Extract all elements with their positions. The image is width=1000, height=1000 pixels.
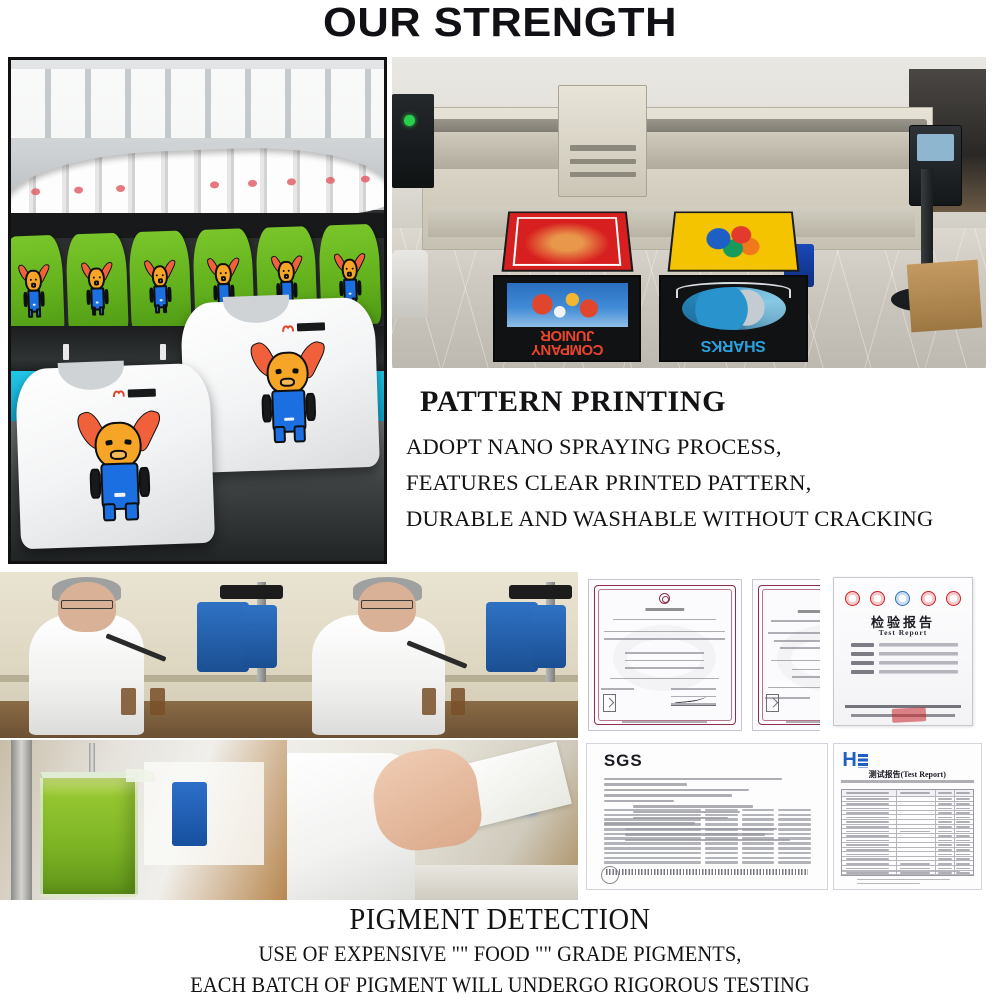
- print-head-carriage: [558, 85, 647, 197]
- photo-pigment-beaker: [0, 740, 287, 900]
- test-report-subtitle: Test Report: [834, 628, 971, 637]
- beaker-spout: [126, 769, 155, 782]
- eyeglasses-icon: [61, 600, 113, 608]
- iso-certificate-chinese: [588, 579, 742, 732]
- cal-seal-icon: [946, 591, 961, 606]
- pigment-detection-line-2: EACH BATCH OF PIGMENT WILL UNDERGO RIGOR…: [35, 969, 965, 1000]
- lab-coat: [312, 615, 445, 735]
- shirt-collar: [222, 295, 289, 325]
- pattern-printing-text-block: PATTERN PRINTING ADOPT NANO SPRAYING PRO…: [392, 385, 998, 537]
- cardboard-box: [906, 260, 982, 333]
- cnas-seal-icon: [895, 591, 910, 606]
- test-report-fields: [851, 643, 958, 679]
- lab-mixer-blue: [532, 605, 567, 668]
- h-report-title: 测试报告(Test Report): [834, 769, 981, 780]
- certification-seal-row: [845, 590, 960, 608]
- photo-hand-with-swatch: [287, 740, 578, 900]
- printer-gantry: [428, 132, 927, 169]
- photo-sgs-and-h-reports: SGS: [582, 740, 986, 900]
- cqc-seal-icon: [845, 591, 860, 606]
- certificate-badge-icon: [603, 694, 616, 712]
- printer-display-screen: [917, 134, 954, 161]
- horn-icon: [281, 324, 293, 333]
- eyeglasses-icon: [361, 600, 413, 608]
- printed-plate-yellow: [668, 212, 800, 273]
- h-test-report: H 测试报告(Test Report): [833, 743, 982, 890]
- infographic-page: OUR STRENGTH: [0, 0, 1000, 1000]
- h-results-table: [841, 789, 974, 876]
- pigment-detection-heading: PIGMENT DETECTION: [40, 900, 960, 938]
- sgs-test-report: SGS: [586, 743, 828, 890]
- shirt-small-logo: [281, 323, 324, 333]
- pattern-printing-line-1: ADOPT NANO SPRAYING PROCESS,: [392, 429, 998, 465]
- lab-photo-right: [289, 572, 578, 738]
- sgs-barcode: [606, 869, 808, 875]
- certificate-watermark: [613, 625, 716, 691]
- lab-coat: [29, 615, 145, 735]
- power-led-icon: [404, 115, 415, 126]
- ccc-seal-icon: [870, 591, 885, 606]
- printed-shirt-front: [15, 362, 215, 549]
- photo-lab-technicians: [0, 572, 578, 738]
- plate-label-company: COMPANY: [501, 342, 634, 357]
- test-report-page: 检验报告 Test Report: [833, 577, 972, 726]
- printer-control-panel[interactable]: [909, 125, 962, 206]
- printed-plate-sharks: SHARKS: [659, 275, 808, 362]
- photo-conveyor-line: [8, 57, 387, 564]
- shark-graphic: [682, 287, 786, 330]
- pigment-detection-line-1: USE OF EXPENSIVE "" FOOD "" GRADE PIGMEN…: [35, 938, 965, 969]
- green-pigment-beaker: [40, 772, 138, 897]
- pattern-printing-line-2: FEATURES CLEAR PRINTED PATTERN,: [392, 465, 998, 501]
- plate-label-sharks: SHARKS: [667, 337, 800, 353]
- background-equipment: [172, 782, 206, 846]
- sgs-stamp-icon: [601, 866, 619, 884]
- bull-mascot: [81, 404, 159, 522]
- page-title: OUR STRENGTH: [0, 0, 1000, 44]
- h-report-notes: [841, 871, 974, 887]
- certificate-signature: [671, 691, 716, 706]
- shirt-collar: [58, 360, 125, 391]
- sgs-logo: SGS: [604, 751, 643, 771]
- horn-icon: [113, 389, 125, 398]
- shirt-small-logo: [113, 388, 156, 398]
- sgs-results-table: [604, 809, 811, 866]
- certificate-badge-icon: [766, 694, 779, 712]
- photo-chinese-test-report: 检验报告 Test Report: [820, 572, 986, 738]
- lab-mixer-blue: [197, 602, 249, 672]
- red-official-stamp: [892, 708, 927, 724]
- printed-plate-junior-company: JUNIOR COMPANY: [493, 275, 642, 362]
- pattern-printing-heading: PATTERN PRINTING: [392, 385, 998, 419]
- lab-mixer-blue: [486, 602, 538, 672]
- cma-seal-icon: [921, 591, 936, 606]
- printed-plate-red: [501, 212, 633, 273]
- waste-bucket: [392, 250, 428, 318]
- pigment-detection-text-block: PIGMENT DETECTION USE OF EXPENSIVE "" FO…: [0, 900, 1000, 1000]
- lab-mixer-blue: [243, 605, 278, 668]
- photo-uv-flatbed-printer: JUNIOR COMPANY SHARKS: [392, 57, 986, 368]
- bull-mascot: [253, 337, 323, 445]
- printer-side-box: [392, 94, 434, 187]
- pattern-printing-line-3: DURABLE AND WASHABLE WITHOUT CRACKING: [392, 501, 998, 537]
- lab-photo-left: [0, 572, 289, 738]
